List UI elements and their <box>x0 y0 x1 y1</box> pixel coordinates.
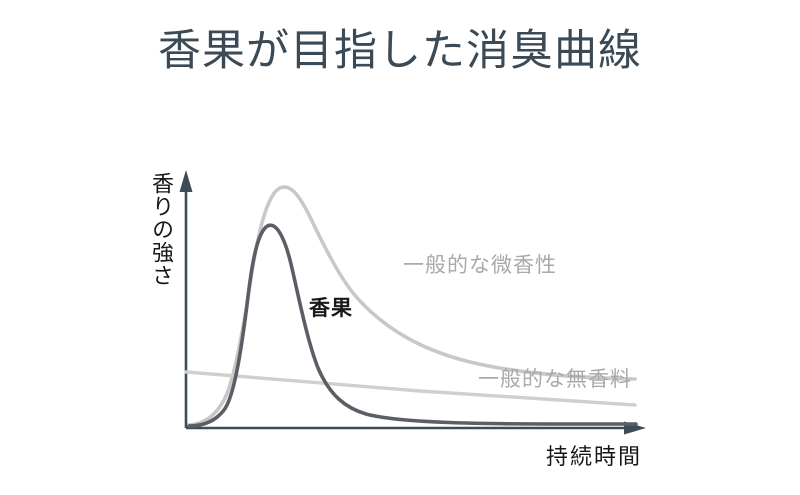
chart-page: 香果が目指した消臭曲線 香りの強さ 持続時間 香果 一般的な微香性 一般的な無香… <box>0 0 800 495</box>
series-label-kouka: 香果 <box>309 292 353 322</box>
series-label-light-fragrance: 一般的な微香性 <box>403 249 557 279</box>
y-axis-label: 香りの強さ <box>146 172 174 287</box>
odor-curve-chart <box>0 0 800 495</box>
y-axis <box>180 170 193 428</box>
series-label-fragrance-free: 一般的な無香料 <box>478 363 632 393</box>
x-axis-label: 持続時間 <box>546 444 642 470</box>
